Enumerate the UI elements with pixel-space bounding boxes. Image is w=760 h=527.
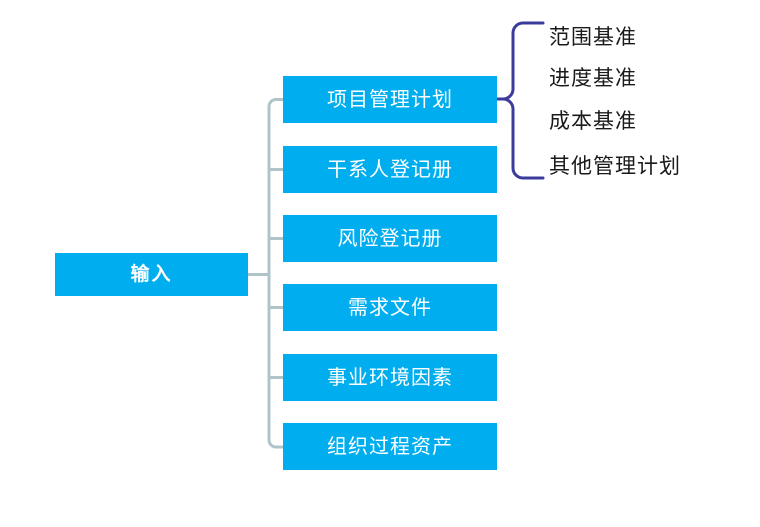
brace-item-cost-baseline: 成本基准	[549, 111, 637, 132]
brace-item-other-management-plans: 其他管理计划	[549, 156, 681, 177]
node-project-management-plan[interactable]: 项目管理计划	[283, 76, 497, 123]
node-stakeholder-register[interactable]: 干系人登记册	[283, 146, 497, 193]
brace-item-schedule-baseline: 进度基准	[549, 68, 637, 89]
node-label: 干系人登记册	[327, 160, 453, 180]
node-label: 事业环境因素	[327, 368, 453, 388]
node-enterprise-environmental-factors[interactable]: 事业环境因素	[283, 354, 497, 401]
node-root-input[interactable]: 输入	[55, 253, 248, 296]
node-organizational-process-assets[interactable]: 组织过程资产	[283, 423, 497, 470]
diagram-canvas: 输入 项目管理计划 干系人登记册 风险登记册 需求文件 事业环境因素 组织过程资…	[0, 0, 760, 527]
node-root-label: 输入	[130, 265, 172, 284]
node-requirements-documentation[interactable]: 需求文件	[283, 284, 497, 331]
node-label: 风险登记册	[338, 229, 443, 249]
node-risk-register[interactable]: 风险登记册	[283, 215, 497, 262]
brace-item-scope-baseline: 范围基准	[549, 27, 637, 48]
node-label: 组织过程资产	[327, 437, 453, 457]
node-label: 需求文件	[348, 298, 432, 318]
node-label: 项目管理计划	[327, 90, 453, 110]
